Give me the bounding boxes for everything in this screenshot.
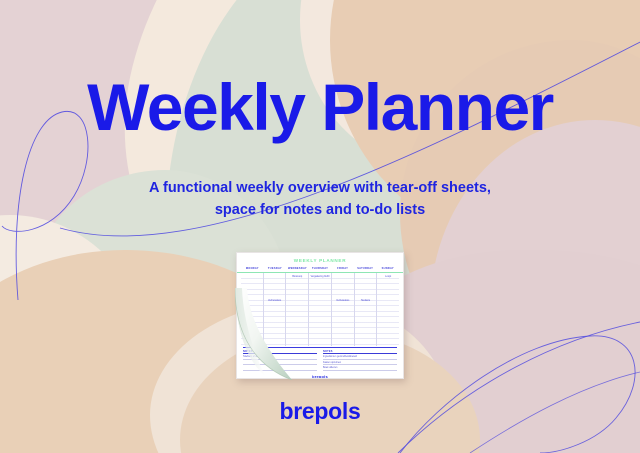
subtitle-line-2: space for notes and to-do lists [0, 200, 640, 222]
planner-notes-right-line: Boek uitlezen [323, 365, 397, 371]
poster-canvas: Weekly Planner A functional weekly overv… [0, 0, 640, 453]
planner-day-sunday: SUNDAY [376, 267, 399, 270]
planner-entry: Loopt [377, 275, 399, 278]
planner-sheet-logo: brepols [237, 374, 403, 379]
planner-column-friday: Verhuisdoos [332, 273, 355, 346]
planner-entry: Bioscoop [286, 275, 308, 278]
planner-column-tuesday: Verhuisdoos [264, 273, 287, 346]
planner-entry: Vergadering 9u30 [309, 275, 331, 278]
planner-day-friday: FRIDAY [331, 267, 354, 270]
planner-day-monday: MONDAY [241, 267, 264, 270]
planner-notes-left-line [243, 365, 317, 371]
planner-notes-area: NOTES Telefoon afval NOTES Ingrediënten … [237, 348, 403, 371]
planner-entry: Verhuisdoos [332, 299, 354, 302]
subtitle-line-1: A functional weekly overview with tear-o… [0, 178, 640, 200]
planner-day-saturday: SATURDAY [354, 267, 377, 270]
page-subtitle: A functional weekly overview with tear-o… [0, 178, 640, 222]
planner-sheet: WEEKLY PLANNER MONDAY TUESDAY WEDNESDAY … [236, 252, 404, 379]
planner-entry: Tandarts [355, 299, 377, 302]
planner-day-wednesday: WEDNESDAY [286, 267, 309, 270]
planner-notes-right: NOTES Ingrediënten gezondheidsbeleid Kas… [323, 350, 397, 371]
planner-column-saturday: Tandarts [355, 273, 378, 346]
planner-entry: Verhuisdoos [264, 299, 286, 302]
planner-sheet-title: WEEKLY PLANNER [237, 258, 403, 263]
planner-day-thursday: THURSDAY [309, 267, 332, 270]
planner-column-sunday: Loopt [377, 273, 399, 346]
brand-logo: brepols [0, 398, 640, 425]
planner-column-thursday: Vergadering 9u30 [309, 273, 332, 346]
page-title: Weekly Planner [0, 74, 640, 140]
planner-column-wednesday: Bioscoop [286, 273, 309, 346]
planner-column-monday [241, 273, 264, 346]
planner-day-tuesday: TUESDAY [264, 267, 287, 270]
planner-mockup: WEEKLY PLANNER MONDAY TUESDAY WEDNESDAY … [236, 252, 404, 379]
planner-notes-left: NOTES Telefoon afval [243, 350, 317, 371]
planner-day-grid: Verhuisdoos Bioscoop Vergadering 9u30 Ve… [237, 273, 403, 346]
